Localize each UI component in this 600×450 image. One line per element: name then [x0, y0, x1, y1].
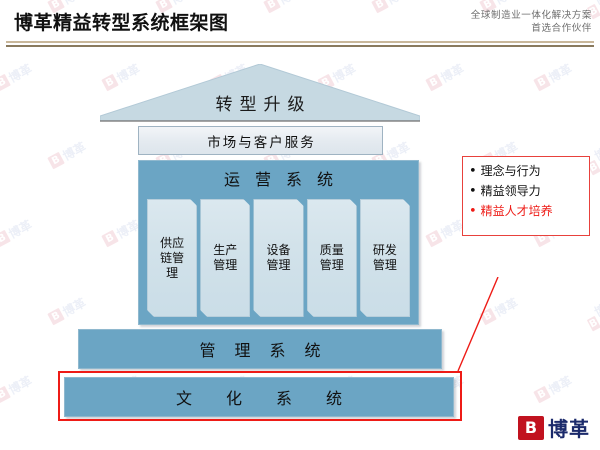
- page-title: 博革精益转型系统框架图: [14, 8, 229, 35]
- market-customer-service-box[interactable]: 市场与客户服务: [138, 126, 383, 155]
- market-customer-service-label: 市场与客户服务: [205, 131, 316, 151]
- roof-shape: 转型升级: [100, 64, 420, 122]
- callout-item-label: 理念与行为: [481, 164, 541, 179]
- pillar-equipment[interactable]: 设备管理: [253, 199, 303, 317]
- roof-label: 转型升级: [100, 90, 420, 115]
- logo-mark-icon: B: [518, 416, 544, 440]
- pillar-label: 生产管理: [208, 243, 242, 273]
- pillar-label: 供应链管理: [155, 236, 189, 281]
- tagline-line-1: 全球制造业一体化解决方案: [471, 9, 592, 22]
- callout-item-talent-development: • 精益人才培养: [469, 204, 585, 219]
- house-diagram: 转型升级 市场与客户服务 运营系统 供应链管理 生产管理 设备管理 质量管理: [0, 52, 600, 450]
- bullet-icon: •: [469, 164, 477, 179]
- pillar-production[interactable]: 生产管理: [200, 199, 250, 317]
- management-system-bar[interactable]: 管理系统: [78, 329, 442, 369]
- slide-canvas: B博革B博革B博革B博革B博革B博革B博革B博革B博革B博革B博革B博革B博革B…: [0, 0, 600, 450]
- callout-item-label: 精益领导力: [481, 184, 541, 199]
- header-tagline: 全球制造业一体化解决方案 首选合作伙伴: [471, 9, 592, 35]
- brand-logo: B 博革: [518, 413, 590, 442]
- callout-item-label: 精益人才培养: [481, 204, 553, 219]
- callout-item-leadership: • 精益领导力: [469, 184, 585, 199]
- pillar-label: 研发管理: [368, 243, 402, 273]
- callout-item-philosophy: • 理念与行为: [469, 164, 585, 179]
- header-rule-bottom: [6, 45, 594, 47]
- slide-header: 博革精益转型系统框架图 全球制造业一体化解决方案 首选合作伙伴: [0, 0, 600, 52]
- tagline-line-2: 首选合作伙伴: [471, 22, 592, 35]
- bullet-icon: •: [469, 184, 477, 199]
- pillar-rnd[interactable]: 研发管理: [360, 199, 410, 317]
- management-system-label: 管理系统: [180, 337, 339, 361]
- operating-system-block[interactable]: 运营系统 供应链管理 生产管理 设备管理 质量管理 研发管理: [138, 160, 419, 325]
- pillar-quality[interactable]: 质量管理: [307, 199, 357, 317]
- operating-system-pillars: 供应链管理 生产管理 设备管理 质量管理 研发管理: [147, 199, 410, 315]
- callout-leader-line: [420, 277, 540, 387]
- bullet-icon: •: [469, 204, 477, 219]
- operating-system-title: 运营系统: [139, 166, 418, 190]
- culture-system-highlight-rect: [58, 371, 462, 421]
- pillar-label: 质量管理: [315, 243, 349, 273]
- lean-culture-callout[interactable]: • 理念与行为 • 精益领导力 • 精益人才培养: [462, 156, 590, 236]
- logo-wordmark: 博革: [548, 413, 590, 442]
- header-rule-top: [6, 41, 594, 43]
- pillar-supply-chain[interactable]: 供应链管理: [147, 199, 197, 317]
- pillar-label: 设备管理: [262, 243, 296, 273]
